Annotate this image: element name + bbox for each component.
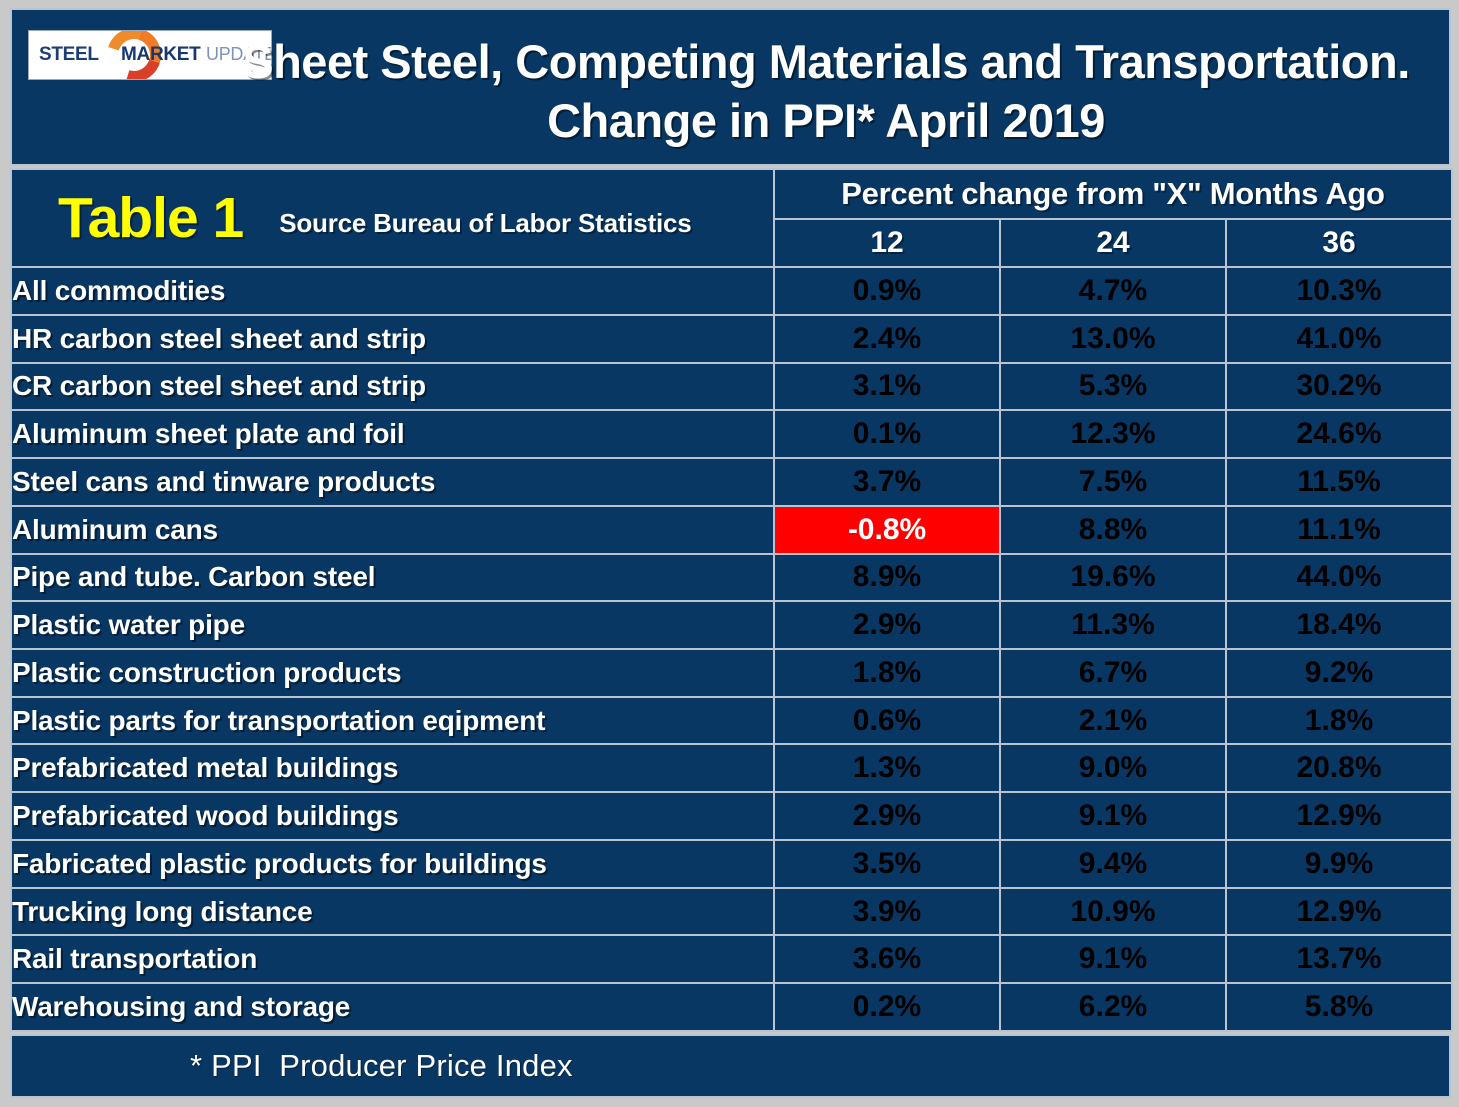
value-cell-12mo: 0.1% xyxy=(774,410,1000,458)
value-cell-24mo: 6.7% xyxy=(1000,649,1226,697)
row-label: Plastic construction products xyxy=(11,649,774,697)
row-label: Fabricated plastic products for building… xyxy=(11,840,774,888)
value-cell-12mo: 2.9% xyxy=(774,792,1000,840)
value-cell-36mo: 13.7% xyxy=(1226,935,1452,983)
table-row: Aluminum sheet plate and foil0.1%12.3%24… xyxy=(11,410,1452,458)
footnote-text: * PPI Producer Price Index xyxy=(12,1048,573,1084)
value-cell-36mo: 24.6% xyxy=(1226,410,1452,458)
row-label: Plastic water pipe xyxy=(11,601,774,649)
table-number-label: Table 1 xyxy=(58,190,243,247)
value-cell-36mo: 11.1% xyxy=(1226,506,1452,554)
value-cell-36mo: 1.8% xyxy=(1226,697,1452,745)
value-cell-36mo: 12.9% xyxy=(1226,792,1452,840)
table-row: HR carbon steel sheet and strip2.4%13.0%… xyxy=(11,315,1452,363)
row-label: Aluminum sheet plate and foil xyxy=(11,410,774,458)
table-row: Prefabricated metal buildings1.3%9.0%20.… xyxy=(11,744,1452,792)
value-cell-24mo: 8.8% xyxy=(1000,506,1226,554)
table-row: Trucking long distance3.9%10.9%12.9% xyxy=(11,888,1452,936)
row-label: CR carbon steel sheet and strip xyxy=(11,363,774,411)
logo-word-steel: STEEL xyxy=(39,44,99,66)
row-label: Prefabricated metal buildings xyxy=(11,744,774,792)
value-cell-12mo: 0.2% xyxy=(774,983,1000,1031)
value-cell-36mo: 5.8% xyxy=(1226,983,1452,1031)
table-row: Prefabricated wood buildings2.9%9.1%12.9… xyxy=(11,792,1452,840)
table-source-label: Source Bureau of Labor Statistics xyxy=(279,198,691,239)
value-cell-12mo: 8.9% xyxy=(774,554,1000,602)
row-label: Steel cans and tinware products xyxy=(11,458,774,506)
value-cell-12mo: 0.6% xyxy=(774,697,1000,745)
table-row: Plastic water pipe2.9%11.3%18.4% xyxy=(11,601,1452,649)
table-row: Aluminum cans-0.8%8.8%11.1% xyxy=(11,506,1452,554)
table-row: Fabricated plastic products for building… xyxy=(11,840,1452,888)
value-cell-24mo: 13.0% xyxy=(1000,315,1226,363)
value-cell-36mo: 9.9% xyxy=(1226,840,1452,888)
value-cell-24mo: 11.3% xyxy=(1000,601,1226,649)
table-header-row-group: Table 1 Source Bureau of Labor Statistic… xyxy=(11,169,1452,219)
table-title-cell: Table 1 Source Bureau of Labor Statistic… xyxy=(11,169,774,267)
value-cell-24mo: 9.4% xyxy=(1000,840,1226,888)
value-cell-36mo: 41.0% xyxy=(1226,315,1452,363)
value-cell-12mo: 2.9% xyxy=(774,601,1000,649)
value-cell-12mo: 3.6% xyxy=(774,935,1000,983)
value-cell-24mo: 9.0% xyxy=(1000,744,1226,792)
value-cell-24mo: 5.3% xyxy=(1000,363,1226,411)
value-cell-24mo: 19.6% xyxy=(1000,554,1226,602)
ppi-table: Table 1 Source Bureau of Labor Statistic… xyxy=(10,168,1453,1032)
value-cell-24mo: 12.3% xyxy=(1000,410,1226,458)
value-cell-12mo: 2.4% xyxy=(774,315,1000,363)
row-label: Trucking long distance xyxy=(11,888,774,936)
table-row: Pipe and tube. Carbon steel8.9%19.6%44.0… xyxy=(11,554,1452,602)
value-cell-12mo: -0.8% xyxy=(774,506,1000,554)
value-cell-36mo: 20.8% xyxy=(1226,744,1452,792)
value-cell-36mo: 10.3% xyxy=(1226,267,1452,315)
value-cell-12mo: 3.9% xyxy=(774,888,1000,936)
value-cell-12mo: 3.5% xyxy=(774,840,1000,888)
value-cell-36mo: 44.0% xyxy=(1226,554,1452,602)
row-label: Warehousing and storage xyxy=(11,983,774,1031)
row-label: All commodities xyxy=(11,267,774,315)
column-header-12: 12 xyxy=(774,219,1000,267)
value-cell-24mo: 2.1% xyxy=(1000,697,1226,745)
column-header-36: 36 xyxy=(1226,219,1452,267)
row-label: Aluminum cans xyxy=(11,506,774,554)
row-label: Rail transportation xyxy=(11,935,774,983)
value-cell-12mo: 1.8% xyxy=(774,649,1000,697)
logo-word-market: MARKET xyxy=(121,44,200,66)
value-cell-24mo: 6.2% xyxy=(1000,983,1226,1031)
value-cell-36mo: 11.5% xyxy=(1226,458,1452,506)
table-row: Plastic parts for transportation eqipmen… xyxy=(11,697,1452,745)
value-cell-24mo: 9.1% xyxy=(1000,792,1226,840)
row-label: Pipe and tube. Carbon steel xyxy=(11,554,774,602)
slide-root: STEEL MARKET UPDATE Sheet Steel, Competi… xyxy=(0,0,1459,1107)
value-cell-24mo: 4.7% xyxy=(1000,267,1226,315)
data-table-container: Table 1 Source Bureau of Labor Statistic… xyxy=(10,168,1451,1032)
title-band: STEEL MARKET UPDATE Sheet Steel, Competi… xyxy=(10,8,1451,166)
column-header-24: 24 xyxy=(1000,219,1226,267)
table-row: Steel cans and tinware products3.7%7.5%1… xyxy=(11,458,1452,506)
row-label: HR carbon steel sheet and strip xyxy=(11,315,774,363)
value-cell-12mo: 3.7% xyxy=(774,458,1000,506)
table-row: All commodities0.9%4.7%10.3% xyxy=(11,267,1452,315)
row-label: Prefabricated wood buildings xyxy=(11,792,774,840)
footnote-band: * PPI Producer Price Index xyxy=(10,1034,1451,1098)
value-cell-24mo: 7.5% xyxy=(1000,458,1226,506)
table-row: Rail transportation3.6%9.1%13.7% xyxy=(11,935,1452,983)
value-cell-24mo: 10.9% xyxy=(1000,888,1226,936)
table-row: CR carbon steel sheet and strip3.1%5.3%3… xyxy=(11,363,1452,411)
value-cell-12mo: 0.9% xyxy=(774,267,1000,315)
value-cell-24mo: 9.1% xyxy=(1000,935,1226,983)
value-cell-36mo: 18.4% xyxy=(1226,601,1452,649)
value-cell-36mo: 9.2% xyxy=(1226,649,1452,697)
value-cell-36mo: 30.2% xyxy=(1226,363,1452,411)
value-cell-12mo: 1.3% xyxy=(774,744,1000,792)
value-cell-36mo: 12.9% xyxy=(1226,888,1452,936)
row-label: Plastic parts for transportation eqipmen… xyxy=(11,697,774,745)
table-group-header: Percent change from "X" Months Ago xyxy=(774,169,1452,219)
table-row: Plastic construction products1.8%6.7%9.2… xyxy=(11,649,1452,697)
value-cell-12mo: 3.1% xyxy=(774,363,1000,411)
table-row: Warehousing and storage0.2%6.2%5.8% xyxy=(11,983,1452,1031)
page-title: Sheet Steel, Competing Materials and Tra… xyxy=(212,32,1440,150)
